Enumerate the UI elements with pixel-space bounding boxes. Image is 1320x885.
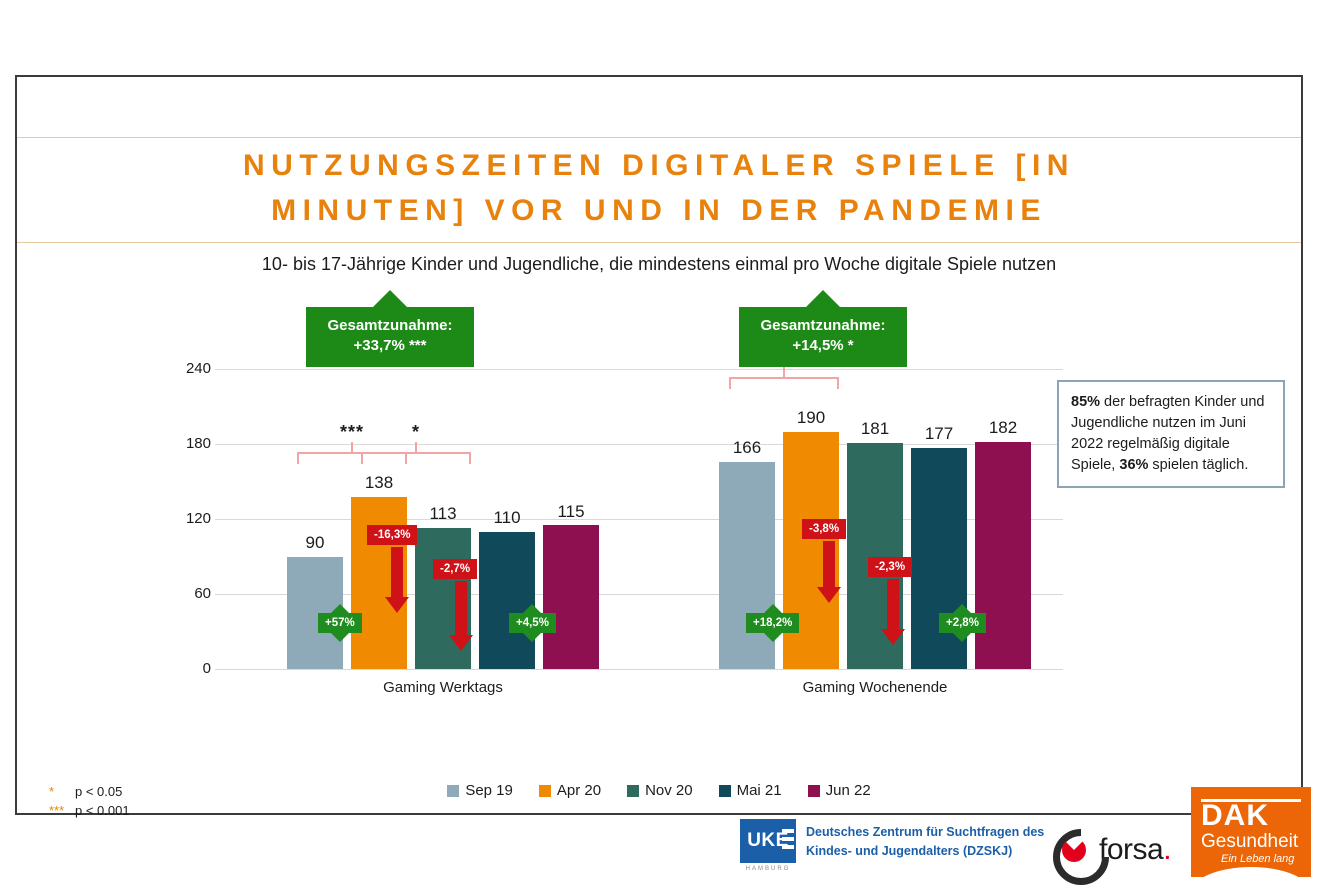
legend-swatch-icon	[808, 785, 820, 797]
bar-label-werktags-jun22: 115	[543, 502, 599, 522]
legend-label-sep19: Sep 19	[465, 782, 513, 799]
p-stars-1: *	[49, 782, 75, 801]
bar-label-werktags-apr20: 138	[351, 473, 407, 493]
uke-logo-bars-icon	[782, 829, 794, 853]
x-axis-label-wochenende: Gaming Wochenende	[719, 679, 1031, 696]
p-stars-2: ***	[49, 801, 75, 820]
info-box-stat-1: 85%	[1071, 394, 1100, 410]
y-tick-180: 180	[165, 435, 211, 452]
p-text-1: p < 0.05	[75, 784, 122, 799]
legend-item-nov20[interactable]: Nov 20	[627, 782, 693, 799]
change-badge-werktags-1: +57%	[318, 613, 362, 633]
legend-swatch-icon	[447, 785, 459, 797]
callout-werktags-line1: Gesamtzunahme:	[320, 316, 460, 336]
legend-swatch-icon	[719, 785, 731, 797]
bar-label-werktags-mai21: 110	[479, 508, 535, 528]
change-badge-wochenende-4: +2,8%	[939, 613, 986, 633]
forsa-logo-mark-icon	[1053, 829, 1095, 871]
gridline-0	[215, 669, 1063, 670]
change-badge-wochenende-2: -3,8%	[802, 519, 846, 539]
bar-werktags-jun22[interactable]	[543, 525, 599, 669]
legend-swatch-icon	[539, 785, 551, 797]
chart-legend: Sep 19 Apr 20 Nov 20 Mai 21 Jun 22	[17, 782, 1301, 799]
uke-caption-line2: Kindes- und Jugendalters (DZSKJ)	[806, 842, 1044, 861]
callout-wochenende-line2: +14,5% *	[753, 336, 893, 356]
legend-item-sep19[interactable]: Sep 19	[447, 782, 513, 799]
forsa-logo: forsa .	[1053, 829, 1172, 871]
title-line-2: MINUTEN] VOR UND IN DER PANDEMIE	[17, 188, 1301, 233]
info-box: 85% der befragten Kinder und Jugendliche…	[1057, 380, 1285, 488]
forsa-logo-text: forsa	[1099, 833, 1163, 867]
bar-label-wochenende-apr20: 190	[783, 408, 839, 428]
legend-label-mai21: Mai 21	[737, 782, 782, 799]
uke-logo-city: HAMBURG	[740, 866, 796, 872]
callout-total-increase-werktags: Gesamtzunahme: +33,7% ***	[306, 307, 474, 367]
legend-item-apr20[interactable]: Apr 20	[539, 782, 601, 799]
y-tick-120: 120	[165, 510, 211, 527]
uke-caption-line1: Deutsches Zentrum für Suchtfragen des	[806, 823, 1044, 842]
bar-label-wochenende-sep19: 166	[719, 438, 775, 458]
legend-item-mai21[interactable]: Mai 21	[719, 782, 782, 799]
dak-logo-subtext: Gesundheit	[1201, 831, 1298, 853]
gridline-240	[215, 369, 1063, 370]
y-tick-240: 240	[165, 360, 211, 377]
subtitle: 10- bis 17-Jährige Kinder und Jugendlich…	[17, 254, 1301, 275]
bar-label-werktags-nov20: 113	[415, 504, 471, 524]
title-line-1: NUTZUNGSZEITEN DIGITALER SPIELE [IN	[17, 143, 1301, 188]
dak-logo-wave	[1191, 867, 1311, 877]
uke-logo-box: UKE	[740, 819, 796, 863]
bar-wochenende-jun22[interactable]	[975, 442, 1031, 670]
p-value-footnote: *p < 0.05 ***p < 0.001	[49, 782, 130, 820]
info-box-text-2: spielen täglich.	[1148, 457, 1248, 473]
bracket-stars-werktags-2: *	[361, 422, 471, 443]
change-arrow-wochenende-3	[879, 579, 907, 645]
dak-logo-text: DAK	[1201, 801, 1269, 831]
significance-bracket-werktags-2: *	[361, 436, 471, 454]
uke-logo-mark: UKE HAMBURG	[740, 819, 796, 872]
uke-caption: Deutsches Zentrum für Suchtfragen des Ki…	[806, 819, 1044, 861]
bar-label-wochenende-nov20: 181	[847, 419, 903, 439]
y-axis: 240 180 120 60 0	[165, 369, 211, 669]
uke-logo: UKE HAMBURG Deutsches Zentrum für Suchtf…	[740, 819, 1044, 872]
p-text-2: p < 0.001	[75, 803, 130, 818]
change-arrow-wochenende-2	[815, 541, 843, 603]
slide-frame: NUTZUNGSZEITEN DIGITALER SPIELE [IN MINU…	[15, 75, 1303, 815]
legend-label-nov20: Nov 20	[645, 782, 693, 799]
bar-werktags-mai21[interactable]	[479, 532, 535, 670]
change-badge-wochenende-1: +18,2%	[746, 613, 799, 633]
dak-logo: DAK Gesundheit Ein Leben lang	[1191, 787, 1311, 877]
x-axis-label-werktags: Gaming Werktags	[287, 679, 599, 696]
legend-label-jun22: Jun 22	[826, 782, 871, 799]
header-divider-top	[17, 137, 1301, 138]
info-box-stat-2: 36%	[1119, 457, 1148, 473]
change-badge-werktags-2: -16,3%	[367, 525, 417, 545]
legend-swatch-icon	[627, 785, 639, 797]
forsa-logo-dot: .	[1163, 833, 1171, 867]
bar-label-werktags-sep19: 90	[287, 533, 343, 553]
bar-label-wochenende-mai21: 177	[911, 424, 967, 444]
page-title: NUTZUNGSZEITEN DIGITALER SPIELE [IN MINU…	[17, 143, 1301, 233]
change-badge-werktags-4: +4,5%	[509, 613, 556, 633]
header-divider-bottom	[17, 242, 1301, 243]
y-tick-0: 0	[165, 660, 211, 677]
legend-label-apr20: Apr 20	[557, 782, 601, 799]
dak-logo-tagline: Ein Leben lang	[1221, 853, 1294, 865]
callout-total-increase-wochenende: Gesamtzunahme: +14,5% *	[739, 307, 907, 367]
bar-chart: 240 180 120 60 0 90 138 113 110 115	[165, 292, 1063, 672]
bar-label-wochenende-jun22: 182	[975, 418, 1031, 438]
change-badge-wochenende-3: -2,3%	[868, 557, 912, 577]
plot-area: 90 138 113 110 115 *** * +57%	[215, 369, 1063, 669]
change-arrow-werktags-3	[447, 581, 475, 651]
callout-wochenende-line1: Gesamtzunahme:	[753, 316, 893, 336]
change-arrow-werktags-2	[383, 547, 411, 613]
change-badge-werktags-3: -2,7%	[433, 559, 477, 579]
y-tick-60: 60	[165, 585, 211, 602]
callout-werktags-line2: +33,7% ***	[320, 336, 460, 356]
legend-item-jun22[interactable]: Jun 22	[808, 782, 871, 799]
